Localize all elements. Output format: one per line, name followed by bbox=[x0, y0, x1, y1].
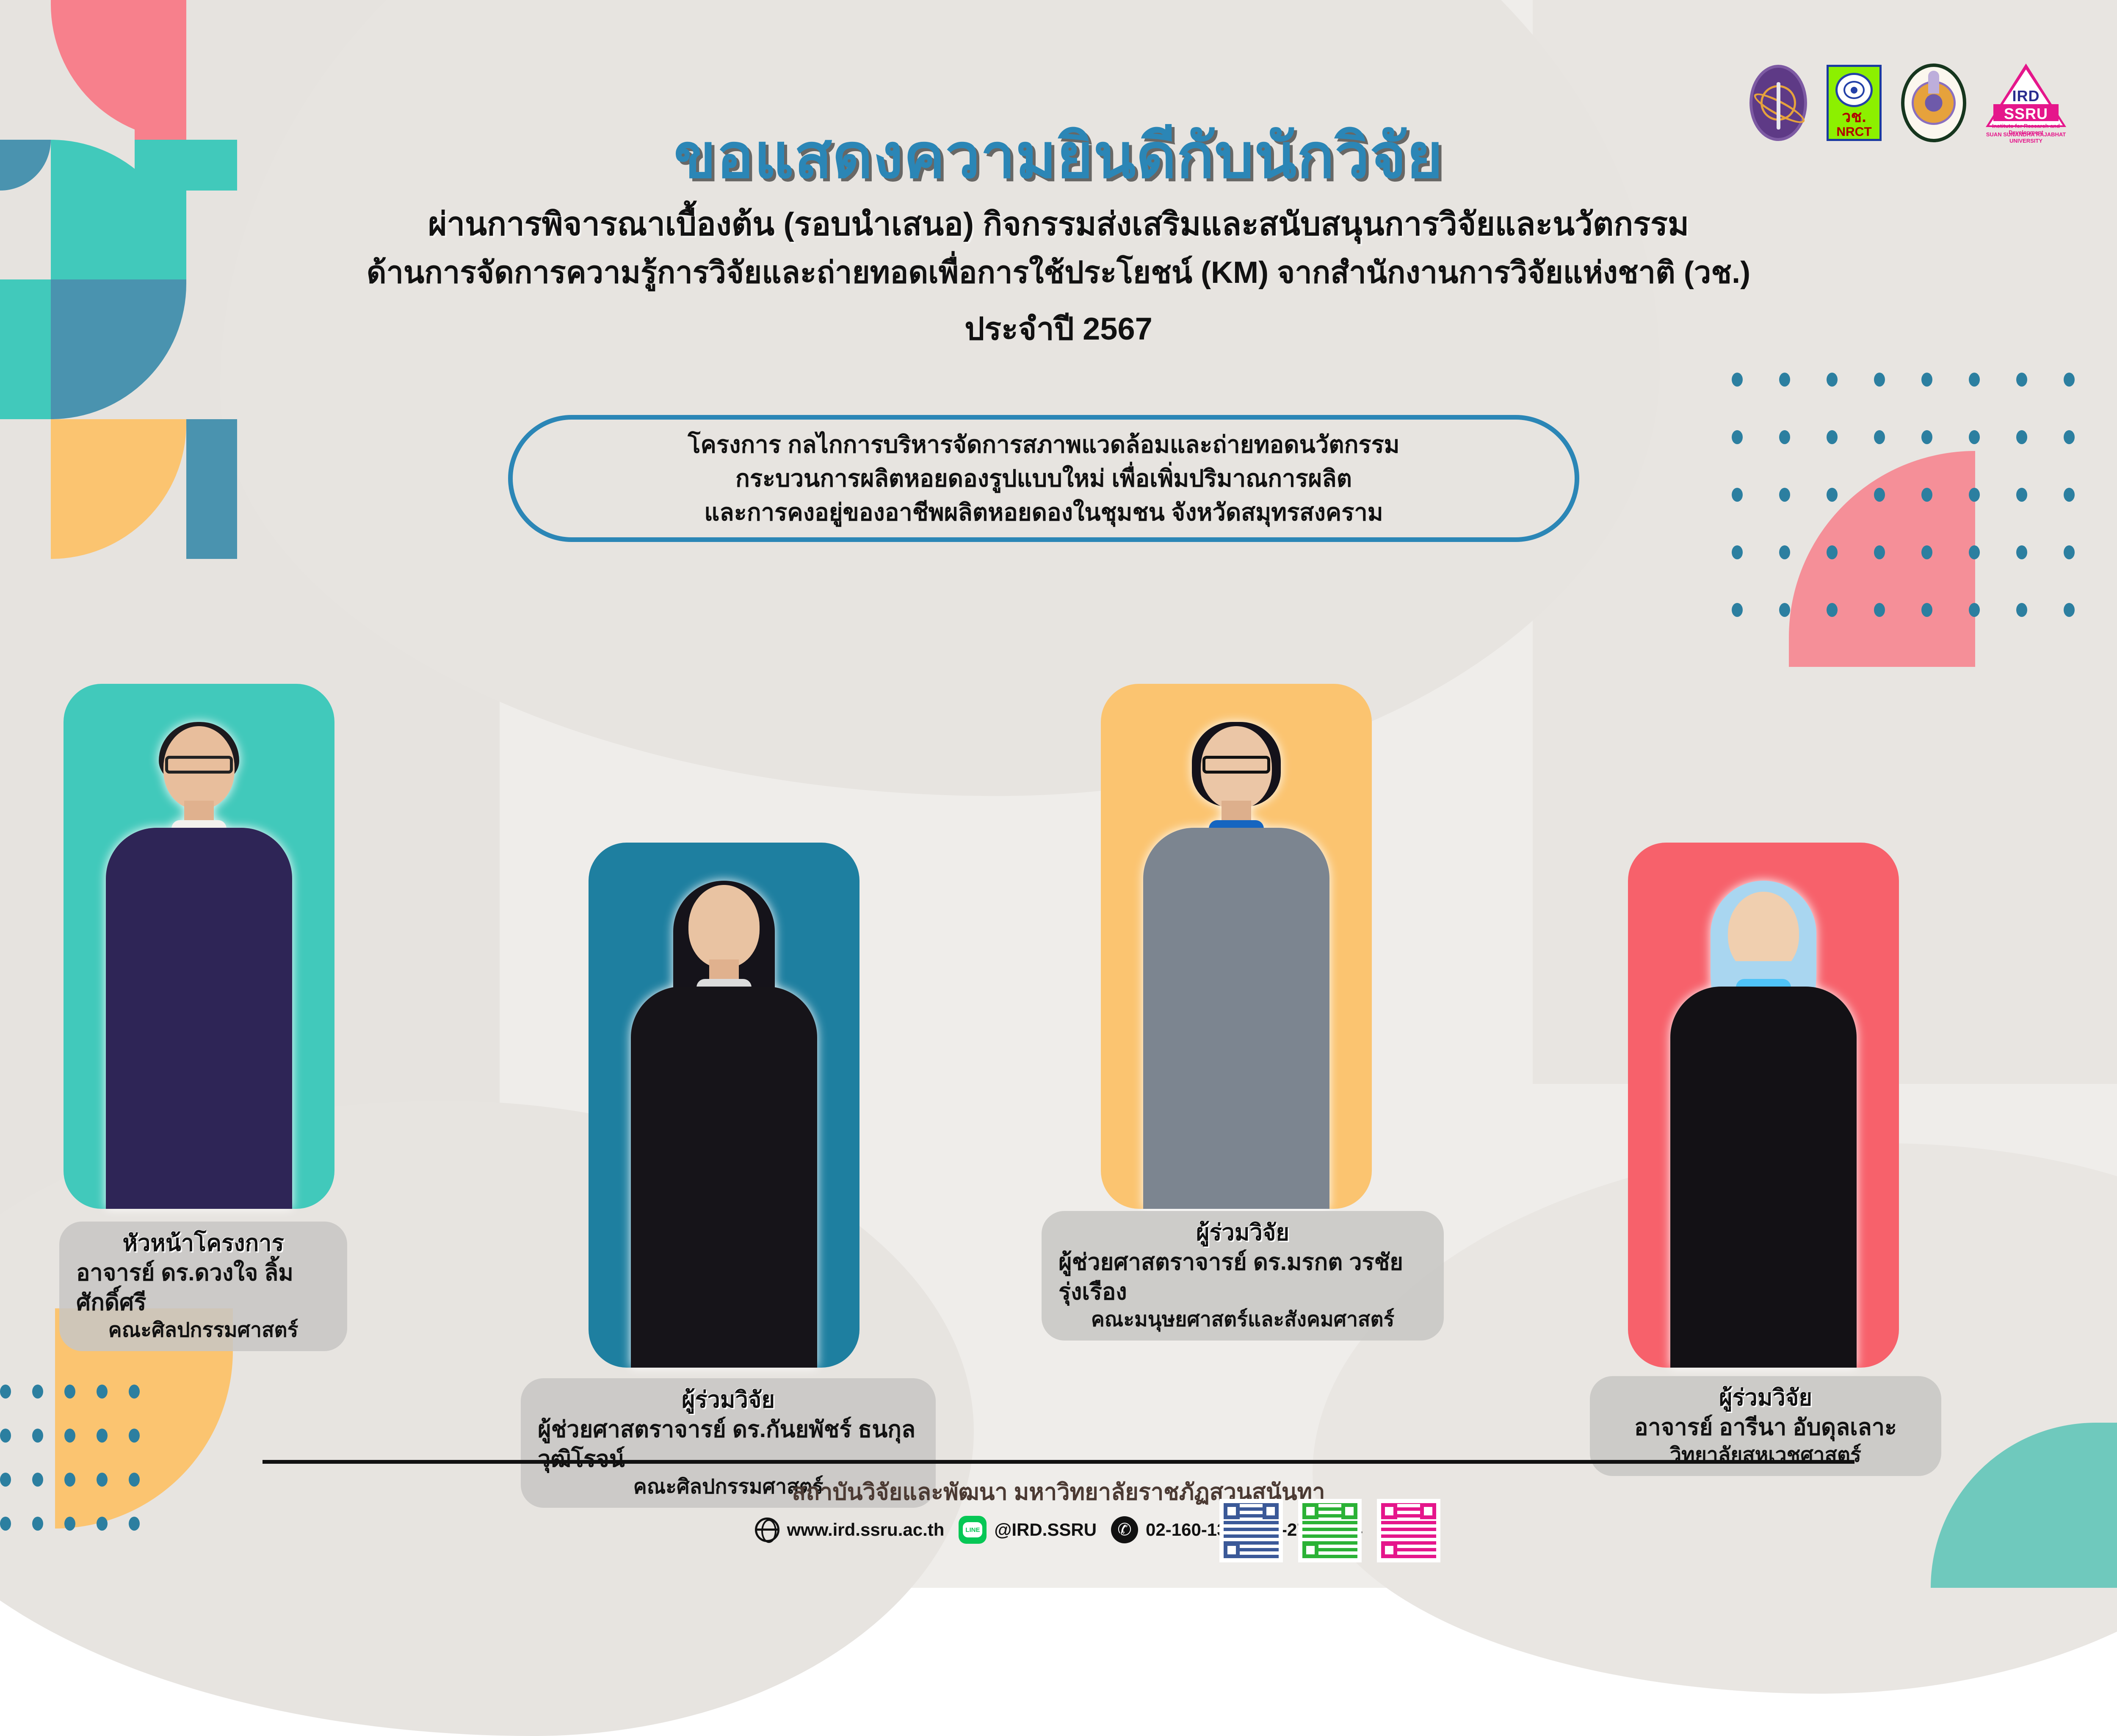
project-line-3: และการคงอยู่ของอาชีพผลิตหอยดองในชุมชน จั… bbox=[704, 498, 1383, 527]
line-contact[interactable]: LINE @IRD.SSRU bbox=[959, 1516, 1097, 1544]
ird-qr[interactable] bbox=[1377, 1499, 1440, 1562]
researcher-faculty: คณะศิลปกรรมศาสตร์ bbox=[108, 1317, 298, 1343]
globe-icon bbox=[755, 1518, 779, 1542]
project-line-1: โครงการ กลไกการบริหารจัดการสภาพแวดล้อมแล… bbox=[688, 430, 1399, 459]
page-subtitle-1: ผ่านการพิจารณาเบื้องต้น (รอบนำเสนอ) กิจก… bbox=[0, 205, 2117, 243]
line-icon: LINE bbox=[959, 1516, 987, 1544]
decorative-shape-pink-block bbox=[135, 0, 186, 140]
researcher-name: อาจารย์ ดร.ดวงใจ ลิ้มศักดิ์ศรี bbox=[76, 1258, 330, 1317]
researcher-name: อาจารย์ อารีนา อับดุลเลาะ bbox=[1634, 1413, 1897, 1442]
researcher-label: ผู้ร่วมวิจัย ผู้ช่วยศาสตราจารย์ ดร.มรกต … bbox=[1042, 1211, 1444, 1341]
researcher-photo-backdrop bbox=[1101, 684, 1372, 1209]
phone-icon bbox=[1111, 1516, 1138, 1543]
researcher-name: ผู้ช่วยศาสตราจารย์ ดร.กันยพัชร์ ธนกุลวุฒ… bbox=[538, 1415, 919, 1474]
footer-divider bbox=[263, 1460, 1854, 1464]
line-id-text: @IRD.SSRU bbox=[994, 1520, 1097, 1540]
decorative-shape-yellow-quarter bbox=[51, 419, 186, 559]
ird-label: IRD bbox=[1986, 87, 2066, 105]
researcher-faculty: คณะมนุษยศาสตร์และสังคมศาสตร์ bbox=[1091, 1307, 1395, 1333]
line-qr[interactable] bbox=[1298, 1499, 1362, 1562]
facebook-qr[interactable] bbox=[1219, 1499, 1283, 1562]
researcher-name: ผู้ช่วยศาสตราจารย์ ดร.มรกต วรชัยรุ่งเรือ… bbox=[1058, 1247, 1427, 1307]
project-title-box: โครงการ กลไกการบริหารจัดการสภาพแวดล้อมแล… bbox=[508, 415, 1579, 542]
header-titles: ขอแสดงความยินดีกับนักวิจัย ผ่านการพิจารณ… bbox=[0, 123, 2117, 354]
researcher-role: หัวหน้าโครงการ bbox=[122, 1229, 284, 1258]
researcher-photo-backdrop bbox=[589, 843, 860, 1368]
researcher-portrait bbox=[1662, 881, 1865, 1368]
website-text: www.ird.ssru.ac.th bbox=[787, 1520, 945, 1540]
researcher-photo-backdrop bbox=[1628, 843, 1899, 1368]
researcher-role: ผู้ร่วมวิจัย bbox=[1196, 1219, 1289, 1247]
researcher-faculty: วิทยาลัยสหเวชศาสตร์ bbox=[1670, 1442, 1861, 1468]
footer-organization: สถาบันวิจัยและพัฒนา มหาวิทยาลัยราชภัฏสวน… bbox=[0, 1473, 2117, 1510]
researcher-photo-backdrop bbox=[64, 684, 334, 1209]
page-subtitle-2: ด้านการจัดการความรู้การวิจัยและถ่ายทอดเพ… bbox=[0, 254, 2117, 291]
website-contact[interactable]: www.ird.ssru.ac.th bbox=[755, 1518, 945, 1542]
qr-code-row bbox=[1219, 1499, 1440, 1562]
line-badge-text: LINE bbox=[963, 1522, 982, 1537]
researcher-role: ผู้ร่วมวิจัย bbox=[682, 1386, 775, 1415]
researcher-role: ผู้ร่วมวิจัย bbox=[1719, 1384, 1812, 1413]
researcher-label: หัวหน้าโครงการ อาจารย์ ดร.ดวงใจ ลิ้มศักด… bbox=[59, 1222, 347, 1351]
researcher-portrait bbox=[622, 881, 826, 1368]
researcher-portrait bbox=[1135, 722, 1338, 1209]
ird-ssru-label: SSRU bbox=[1986, 105, 2066, 123]
page-title: ขอแสดงความยินดีกับนักวิจัย bbox=[0, 123, 2117, 190]
nrct-wheel-icon bbox=[1835, 73, 1873, 107]
page-subtitle-3: ประจำปี 2567 bbox=[0, 304, 2117, 354]
decorative-shape-blue-block bbox=[186, 419, 237, 559]
project-line-2: กระบวนการผลิตหอยดองรูปแบบใหม่ เพื่อเพิ่ม… bbox=[735, 464, 1352, 493]
contact-row: www.ird.ssru.ac.th LINE @IRD.SSRU 02-160… bbox=[0, 1516, 2117, 1544]
decorative-dot-grid-right bbox=[1732, 373, 2113, 711]
researcher-portrait bbox=[97, 722, 301, 1209]
